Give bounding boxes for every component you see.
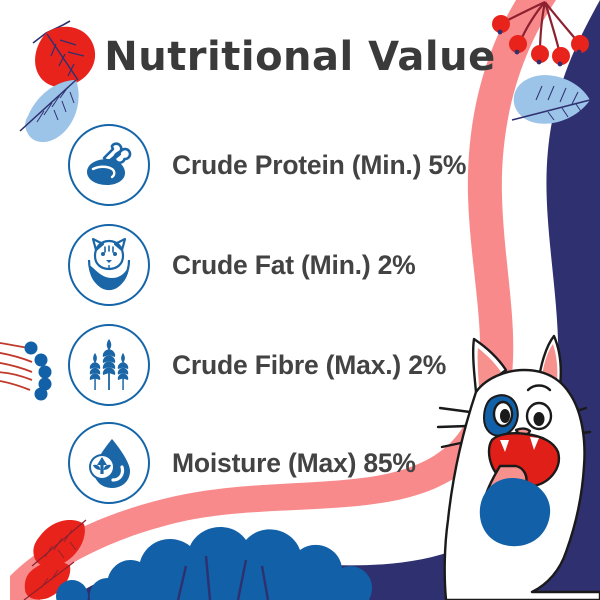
cat-icon bbox=[78, 234, 140, 296]
nutrition-label-crude-fibre: Crude Fibre (Max.) 2% bbox=[172, 350, 446, 381]
nutrition-row-crude-fat: Crude Fat (Min.) 2% bbox=[68, 222, 416, 308]
water-droplet-icon bbox=[80, 434, 138, 492]
nutrition-row-crude-fibre: Crude Fibre (Max.) 2% bbox=[68, 322, 446, 408]
nutrition-label-crude-protein: Crude Protein (Min.) 5% bbox=[172, 150, 466, 181]
chicken-drumstick-icon-circle bbox=[68, 124, 150, 206]
nutrition-label-moisture: Moisture (Max) 85% bbox=[172, 448, 416, 479]
wheat-stalks-icon bbox=[79, 335, 139, 395]
nutrition-row-crude-protein: Crude Protein (Min.) 5% bbox=[68, 122, 466, 208]
nutrition-row-moisture: Moisture (Max) 85% bbox=[68, 420, 416, 506]
wheat-stalks-icon-circle bbox=[68, 324, 150, 406]
nutritional-value-graphic: Nutritional Value Crude Protein (Min.) 5… bbox=[0, 0, 600, 600]
nutrition-label-crude-fat: Crude Fat (Min.) 2% bbox=[172, 250, 416, 281]
page-title: Nutritional Value bbox=[0, 34, 600, 80]
chicken-drumstick-icon bbox=[79, 135, 139, 195]
water-droplet-icon-circle bbox=[68, 422, 150, 504]
cat-icon-circle bbox=[68, 224, 150, 306]
